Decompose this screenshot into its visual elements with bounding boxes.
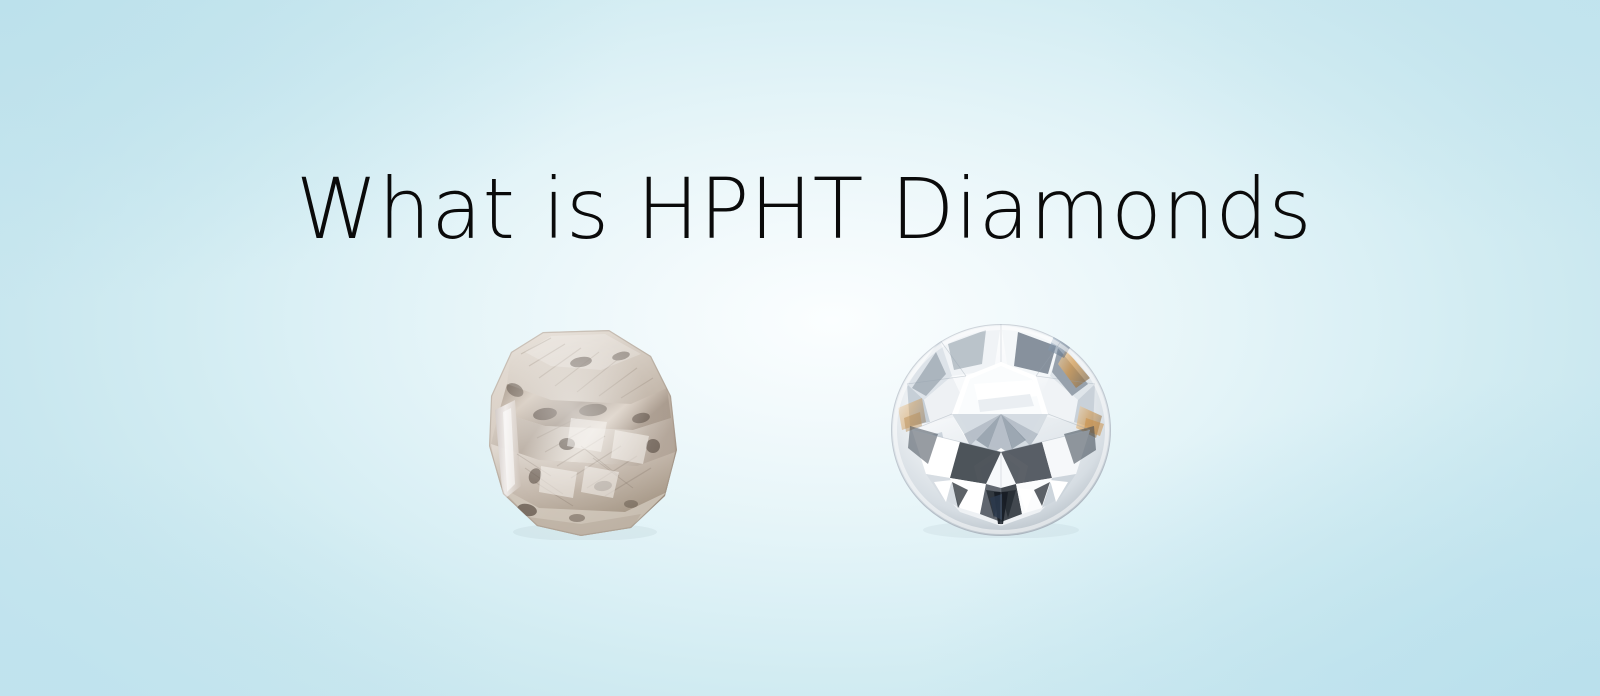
hpht-diamonds-banner: What is HPHT Diamonds xyxy=(0,0,1600,696)
cut-diamond-image xyxy=(890,322,1112,538)
rough-diamond-image xyxy=(481,326,685,540)
gem-comparison-row xyxy=(0,0,1600,696)
